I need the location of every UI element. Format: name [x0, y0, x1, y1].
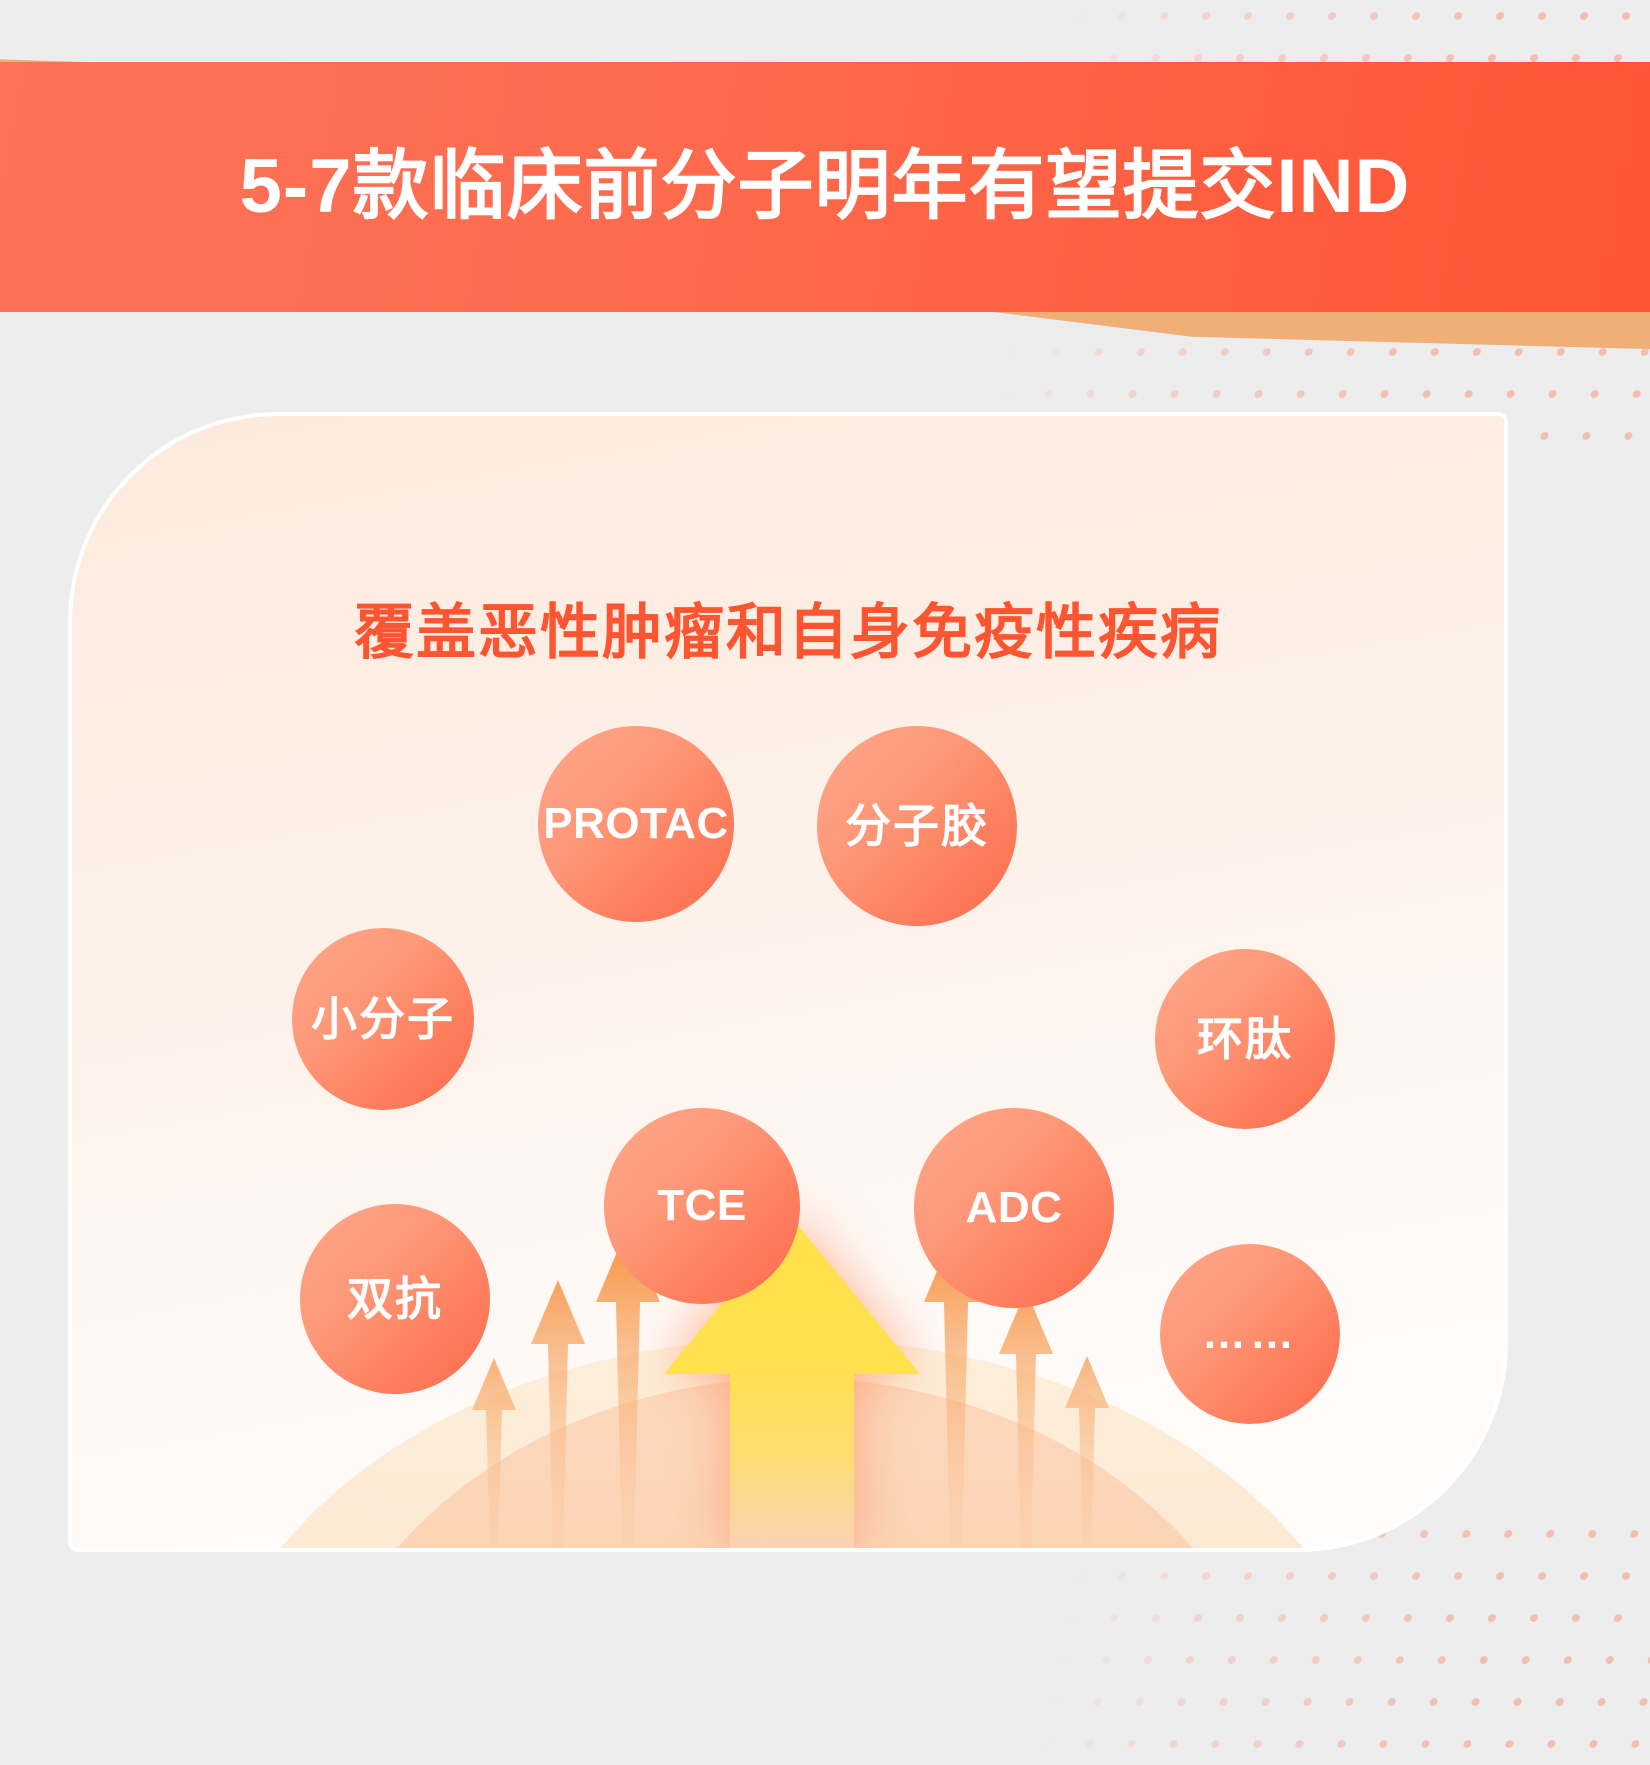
mini-arrow-1	[472, 1358, 516, 1548]
bubble-label: PROTAC	[543, 802, 729, 846]
bubble-label: 双抗	[347, 1276, 443, 1322]
bubble-adc[interactable]: ADC	[914, 1108, 1114, 1308]
bubble-bispecific-antibody[interactable]: 双抗	[300, 1204, 490, 1394]
bubble-small-molecule[interactable]: 小分子	[292, 928, 474, 1110]
bubble-ellipsis[interactable]: ……	[1160, 1244, 1340, 1424]
card-heading: 覆盖恶性肿瘤和自身免疫性疾病	[72, 584, 1504, 671]
bubble-label: ……	[1202, 1312, 1298, 1356]
title-banner: 5-7款临床前分子明年有望提交IND	[0, 62, 1650, 312]
bubble-label: 分子胶	[845, 803, 989, 849]
mini-arrow-6	[1065, 1356, 1109, 1548]
bubble-tce[interactable]: TCE	[604, 1108, 800, 1304]
page-title: 5-7款临床前分子明年有望提交IND	[240, 149, 1411, 225]
bubble-label: 小分子	[311, 996, 455, 1042]
mini-arrow-5	[999, 1290, 1053, 1548]
content-card: 覆盖恶性肿瘤和自身免疫性疾病	[68, 412, 1508, 1552]
infographic-slide: 5-7款临床前分子明年有望提交IND 覆盖恶性肿瘤和自身免疫性疾病	[0, 0, 1650, 1765]
bubble-molecular-glue[interactable]: 分子胶	[817, 726, 1017, 926]
bubble-label: TCE	[657, 1184, 747, 1228]
bubble-cyclic-peptide[interactable]: 环肽	[1155, 949, 1335, 1129]
bubble-label: 环肽	[1197, 1016, 1293, 1062]
mini-arrow-2	[531, 1280, 585, 1548]
bubble-protac[interactable]: PROTAC	[538, 726, 734, 922]
bubble-label: ADC	[966, 1186, 1063, 1230]
